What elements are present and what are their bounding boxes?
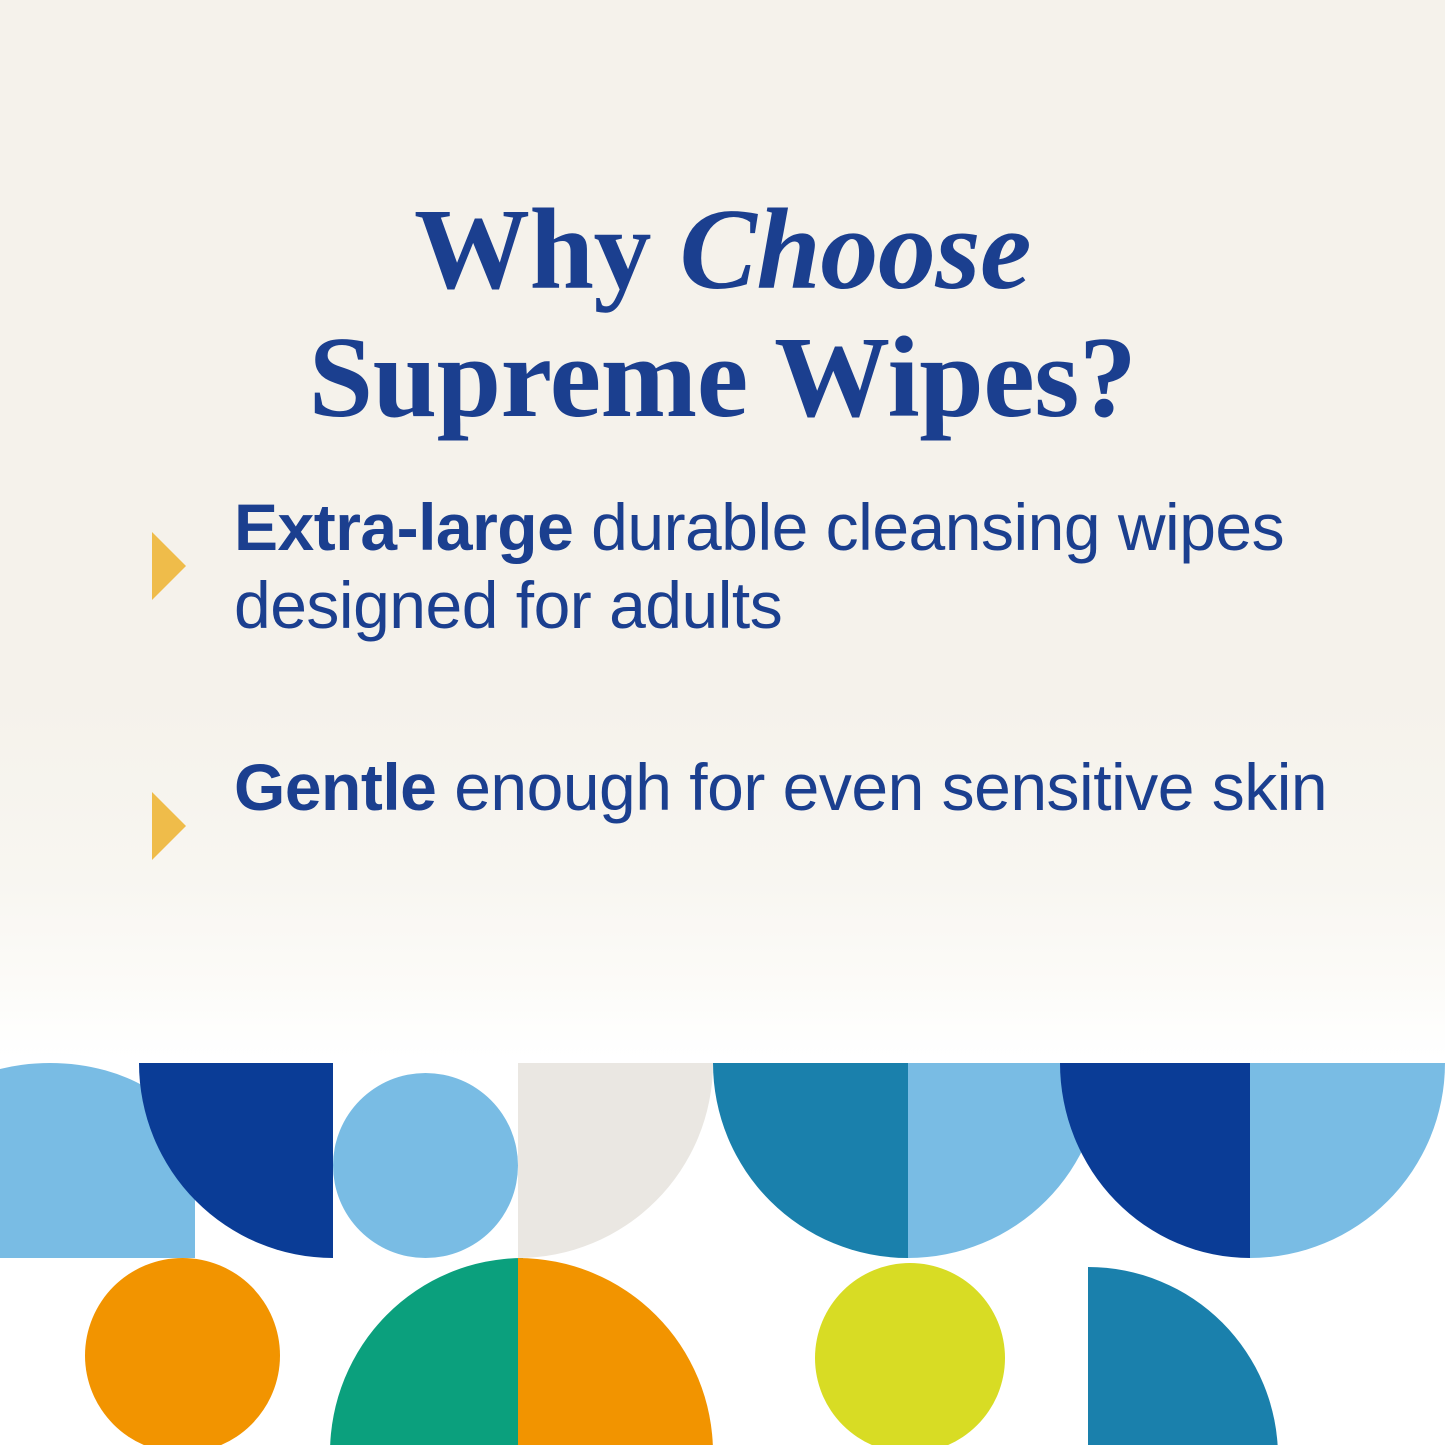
triangle-right-icon [152, 792, 186, 860]
page-title-line1-italic: Choose [680, 186, 1032, 314]
marketing-graphic: Why ChooseSupreme Wipes? Extra-large dur… [0, 0, 1445, 1445]
orange-circle [85, 1258, 280, 1445]
feature-bullet-2-bold: Gentle [234, 750, 436, 824]
light-blue-circle-small [333, 1073, 518, 1258]
teal-quarter-disc-lower [1088, 1267, 1278, 1445]
page-title-line1-plain: Why [414, 186, 680, 314]
dark-blue-half-disc-bottom [1060, 1063, 1250, 1258]
triangle-right-icon [152, 532, 186, 600]
page-title: Why ChooseSupreme Wipes? [0, 186, 1445, 442]
feature-bullet-2: Gentle enough for even sensitive skin [152, 748, 1332, 860]
feature-bullet-1-bold: Extra-large [234, 490, 573, 564]
light-blue-half-disc-bottom-right [1250, 1063, 1445, 1258]
feature-bullet-2-text: Gentle enough for even sensitive skin [234, 748, 1332, 826]
page-title-line2: Supreme Wipes? [309, 314, 1137, 442]
teal-half-disc-top [713, 1063, 908, 1258]
orange-half-disc-bottom [518, 1258, 713, 1445]
green-quarter-disc [330, 1258, 523, 1445]
decorative-shape-band [0, 1055, 1445, 1445]
beige-quarter-disc [518, 1063, 713, 1258]
feature-bullet-1-text: Extra-large durable cleansing wipes desi… [234, 488, 1332, 644]
feature-bullet-2-rest: enough for even sensitive skin [436, 750, 1327, 824]
feature-bullet-1: Extra-large durable cleansing wipes desi… [152, 488, 1332, 644]
yellow-green-circle [815, 1263, 1005, 1445]
